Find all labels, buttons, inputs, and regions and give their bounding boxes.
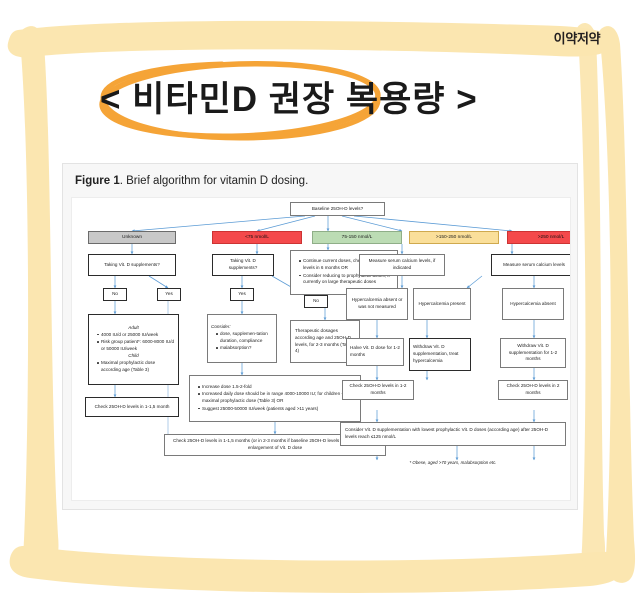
node-increase-dose[interactable]: Increase dose 1.5-2-fold Increased daily… [189, 375, 361, 422]
node-hypercalcemia-present-label: Hypercalcemia present [419, 301, 466, 308]
figure-caption-bold: Figure 1 [75, 175, 120, 187]
node-level-gt250-label: >250 nmol/L [538, 234, 565, 241]
node-level-unknown-label: Unknown [122, 234, 142, 241]
node-taking-supplements-b-label: Taking Vit. D supplements? [216, 258, 270, 272]
adult-bullet-1: 4000 IU/d or 25000 IU/week [97, 332, 175, 339]
node-consider-lowest-prophylactic-label: Consider Vit. D supplementation with low… [345, 427, 561, 441]
node-hypercalcemia-absent-or-not-label: Hypercalcemia absent or was not measured [350, 297, 404, 311]
node-no-a[interactable]: No [103, 288, 127, 301]
node-level-unknown[interactable]: Unknown [88, 231, 176, 244]
watermark: 이약저약 [524, 22, 630, 52]
watermark-text: 이약저약 [554, 28, 601, 47]
node-consider-lowest-prophylactic[interactable]: Consider Vit. D supplementation with low… [340, 422, 566, 446]
node-check-1-15-month-label: Check 25OH-D levels in 1-1,5 month [95, 404, 170, 411]
increase-bullet-2: Increased daily dose should be in range … [198, 391, 357, 405]
node-hypercalcemia-absent-label: Hypercalcemia absent [510, 301, 555, 308]
node-level-150-250[interactable]: >150-250 nmol/L [409, 231, 499, 244]
node-taking-supplements-a-label: Taking Vit. D supplements? [104, 262, 160, 269]
adult-bullet-2: Risk group patient*: 6000-8000 IU/d or 5… [97, 339, 175, 353]
increase-bullet-3: Suggest 25000-50000 IU/week (patients ag… [198, 406, 357, 413]
figure-caption: Figure 1. Brief algorithm for vitamin D … [75, 175, 308, 187]
node-hypercalcemia-absent-or-not[interactable]: Hypercalcemia absent or was not measured [346, 288, 408, 320]
consider-bullet-1: dose, supplemen-tation duration, complia… [216, 331, 273, 345]
node-taking-supplements-a[interactable]: Taking Vit. D supplements? [88, 254, 176, 276]
page-title: < 비타민D 권장 복용량 > [100, 70, 550, 130]
increase-bullet-1: Increase dose 1.5-2-fold [198, 384, 357, 391]
node-level-150-250-label: >150-250 nmol/L [436, 234, 472, 241]
node-no-b[interactable]: No [304, 295, 328, 308]
node-level-gt250[interactable]: >250 nmol/L [507, 231, 571, 244]
child-bullet-1: Maximal prophylactic dose according age … [97, 360, 175, 374]
consider-bullet-2: malabsorption? [216, 345, 273, 352]
adult-heading: Adult [92, 325, 175, 332]
node-yes-a[interactable]: Yes [157, 288, 181, 301]
node-hypercalcemia-present[interactable]: Hypercalcemia present [413, 288, 471, 320]
child-heading: Child [92, 353, 175, 360]
node-baseline-levels-label: Baseline 25OH-D levels? [312, 206, 363, 213]
footnote: * Obese, aged >70 years, malabsorption e… [340, 460, 566, 465]
consider-heading: Consider: [211, 324, 273, 331]
node-withdraw-1-2-months-label: Withdraw Vit. D supplementation for 1-2 … [504, 343, 562, 364]
node-yes-b-label: Yes [238, 291, 246, 298]
node-level-75-150[interactable]: 75-150 nmol/L [312, 231, 402, 244]
node-adult-child-doses[interactable]: Adult 4000 IU/d or 25000 IU/week Risk gr… [88, 314, 179, 385]
node-measure-calcium-indicated[interactable]: Measure serum calcium levels, if indicat… [359, 254, 445, 276]
node-consider-factors[interactable]: Consider: dose, supplemen-tation duratio… [207, 314, 277, 363]
figure-caption-rest: . Brief algorithm for vitamin D dosing. [120, 175, 309, 187]
node-no-a-label: No [112, 291, 118, 298]
node-measure-calcium[interactable]: Measure serum calcium levels [491, 254, 571, 276]
node-yes-a-label: Yes [165, 291, 173, 298]
node-withdraw-treat-label: Withdraw Vit. D supplementation, treat h… [413, 344, 467, 365]
figure-card: Figure 1. Brief algorithm for vitamin D … [62, 163, 578, 510]
footnote-text: * Obese, aged >70 years, malabsorption e… [409, 460, 496, 465]
figure-body: Baseline 25OH-D levels? Unknown <75 nmol… [71, 197, 571, 501]
node-check-2-months[interactable]: Check 25OH-D levels in 2 months [498, 380, 568, 400]
node-withdraw-treat[interactable]: Withdraw Vit. D supplementation, treat h… [409, 338, 471, 371]
node-level-lt75-label: <75 nmol/L [245, 234, 269, 241]
node-check-2-months-label: Check 25OH-D levels in 2 months [502, 383, 564, 397]
node-measure-calcium-indicated-label: Measure serum calcium levels, if indicat… [363, 258, 441, 272]
node-baseline-levels[interactable]: Baseline 25OH-D levels? [290, 202, 385, 216]
node-check-1-15-month[interactable]: Check 25OH-D levels in 1-1,5 month [85, 397, 179, 417]
node-halve-dose[interactable]: Halve Vit. D dose for 1-2 months [346, 338, 404, 366]
page-title-text: < 비타민D 권장 복용량 > [100, 70, 550, 130]
node-hypercalcemia-absent[interactable]: Hypercalcemia absent [502, 288, 564, 320]
node-measure-calcium-label: Measure serum calcium levels [503, 262, 565, 269]
node-level-75-150-label: 75-150 nmol/L [342, 234, 373, 241]
node-level-lt75[interactable]: <75 nmol/L [212, 231, 302, 244]
node-taking-supplements-b[interactable]: Taking Vit. D supplements? [212, 254, 274, 276]
flowchart: Baseline 25OH-D levels? Unknown <75 nmol… [72, 198, 570, 500]
node-check-1-2-months[interactable]: Check 25OH-D levels in 1-2 months [342, 380, 414, 400]
page-root: 이약저약 < 비타민D 권장 복용량 > Figure 1. Brief alg… [0, 0, 638, 607]
node-halve-dose-label: Halve Vit. D dose for 1-2 months [350, 345, 400, 359]
node-withdraw-1-2-months[interactable]: Withdraw Vit. D supplementation for 1-2 … [500, 338, 566, 368]
node-yes-b[interactable]: Yes [230, 288, 254, 301]
node-no-b-label: No [313, 298, 319, 305]
node-check-1-2-months-label: Check 25OH-D levels in 1-2 months [346, 383, 410, 397]
